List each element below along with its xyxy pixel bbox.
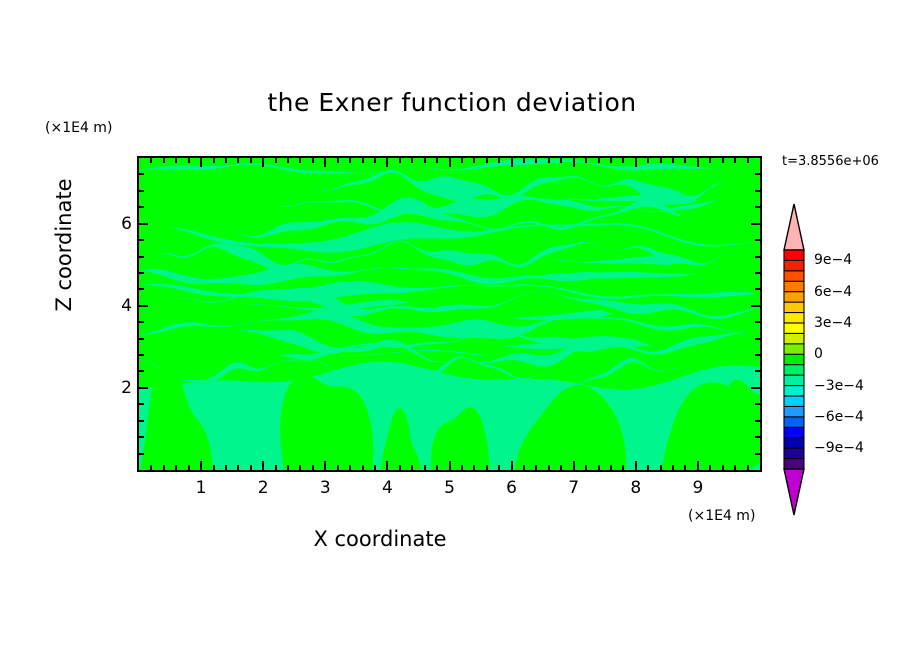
y-axis-minor-tick-right [755, 272, 760, 274]
x-axis-minor-tick-top [598, 158, 600, 163]
x-axis-tick-label: 6 [506, 478, 517, 498]
x-axis-minor-tick-top [734, 158, 736, 163]
x-axis-minor-tick [399, 465, 401, 470]
x-axis-minor-tick-top [684, 158, 686, 163]
y-axis-minor-tick [139, 420, 144, 422]
x-axis-minor-tick [374, 465, 376, 470]
x-axis-minor-tick [747, 465, 749, 470]
contour-plot-area [137, 156, 762, 472]
x-axis-tick-label: 8 [630, 478, 641, 498]
x-axis-minor-tick-top [337, 158, 339, 163]
x-axis-minor-tick [163, 465, 165, 470]
y-axis-minor-tick-right [755, 239, 760, 241]
x-axis-minor-tick-top [411, 158, 413, 163]
x-axis-major-tick [200, 461, 202, 470]
x-axis-minor-tick-top [188, 158, 190, 163]
x-axis-minor-tick-top [585, 158, 587, 163]
x-axis-minor-tick [647, 465, 649, 470]
x-axis-minor-tick-top [610, 158, 612, 163]
x-axis-minor-tick-top [622, 158, 624, 163]
x-axis-unit-label: (×1E4 m) [688, 508, 755, 524]
x-axis-major-tick-top [324, 158, 326, 167]
y-axis-minor-tick [139, 321, 144, 323]
x-axis-major-tick-top [697, 158, 699, 167]
x-axis-major-tick-top [573, 158, 575, 167]
y-axis-minor-tick [139, 370, 144, 372]
x-axis-minor-tick-top [175, 158, 177, 163]
y-axis-minor-tick-right [755, 288, 760, 290]
colorbar [780, 203, 808, 516]
y-axis-minor-tick-right [755, 338, 760, 340]
x-axis-minor-tick-top [461, 158, 463, 163]
y-axis-tick-label: 6 [110, 214, 132, 234]
x-axis-minor-tick [548, 465, 550, 470]
x-axis-minor-tick-top [660, 158, 662, 163]
y-axis-minor-tick-right [755, 370, 760, 372]
x-axis-major-tick [511, 461, 513, 470]
timestamp-label: t=3.8556e+06 [782, 154, 879, 169]
y-axis-major-tick [139, 387, 148, 389]
x-axis-minor-tick [622, 465, 624, 470]
y-axis-minor-tick [139, 272, 144, 274]
x-axis-tick-label: 3 [320, 478, 331, 498]
x-axis-minor-tick [349, 465, 351, 470]
y-axis-minor-tick [139, 256, 144, 258]
x-axis-minor-tick [610, 465, 612, 470]
colorbar-tick-label: 3e−4 [814, 315, 852, 331]
x-axis-minor-tick-top [163, 158, 165, 163]
x-axis-minor-tick-top [473, 158, 475, 163]
y-axis-major-tick-right [751, 387, 760, 389]
y-axis-major-tick [139, 305, 148, 307]
x-axis-major-tick [262, 461, 264, 470]
x-axis-minor-tick-top [374, 158, 376, 163]
x-axis-minor-tick [362, 465, 364, 470]
y-axis-minor-tick [139, 403, 144, 405]
x-axis-minor-tick-top [312, 158, 314, 163]
x-axis-major-tick-top [262, 158, 264, 167]
x-axis-minor-tick [734, 465, 736, 470]
x-axis-minor-tick [424, 465, 426, 470]
y-axis-minor-tick-right [755, 256, 760, 258]
colorbar-tick-label: 0 [814, 346, 823, 362]
y-axis-tick-label: 2 [110, 378, 132, 398]
y-axis-minor-tick [139, 338, 144, 340]
colorbar-tick-label: −9e−4 [814, 440, 864, 456]
x-axis-minor-tick-top [672, 158, 674, 163]
x-axis-major-tick-top [386, 158, 388, 167]
x-axis-minor-tick-top [535, 158, 537, 163]
y-axis-minor-tick [139, 190, 144, 192]
x-axis-minor-tick-top [399, 158, 401, 163]
colorbar-tick-label: −3e−4 [814, 378, 864, 394]
x-axis-minor-tick-top [287, 158, 289, 163]
y-axis-minor-tick-right [755, 436, 760, 438]
x-axis-major-tick [386, 461, 388, 470]
y-axis-minor-tick-right [755, 190, 760, 192]
x-axis-minor-tick-top [560, 158, 562, 163]
x-axis-minor-tick-top [709, 158, 711, 163]
x-axis-major-tick [573, 461, 575, 470]
x-axis-major-tick [635, 461, 637, 470]
x-axis-minor-tick-top [548, 158, 550, 163]
x-axis-minor-tick-top [722, 158, 724, 163]
y-axis-minor-tick [139, 436, 144, 438]
y-axis-minor-tick [139, 173, 144, 175]
x-axis-major-tick-top [511, 158, 513, 167]
x-axis-minor-tick [225, 465, 227, 470]
x-axis-minor-tick-top [523, 158, 525, 163]
y-axis-major-tick-right [751, 305, 760, 307]
x-axis-minor-tick [535, 465, 537, 470]
x-axis-minor-tick [436, 465, 438, 470]
y-axis-minor-tick-right [755, 403, 760, 405]
y-axis-minor-tick [139, 453, 144, 455]
x-axis-minor-tick-top [275, 158, 277, 163]
x-axis-tick-label: 5 [444, 478, 455, 498]
x-axis-minor-tick [237, 465, 239, 470]
x-axis-minor-tick [213, 465, 215, 470]
x-axis-minor-tick [473, 465, 475, 470]
x-axis-minor-tick-top [150, 158, 152, 163]
x-axis-major-tick-top [200, 158, 202, 167]
x-axis-minor-tick [461, 465, 463, 470]
x-axis-minor-tick [287, 465, 289, 470]
x-axis-minor-tick [523, 465, 525, 470]
x-axis-major-tick [324, 461, 326, 470]
x-axis-minor-tick [188, 465, 190, 470]
y-axis-minor-tick [139, 239, 144, 241]
x-axis-minor-tick [312, 465, 314, 470]
x-axis-minor-tick-top [647, 158, 649, 163]
y-axis-minor-tick-right [755, 453, 760, 455]
y-axis-minor-tick [139, 288, 144, 290]
x-axis-minor-tick [560, 465, 562, 470]
x-axis-minor-tick-top [498, 158, 500, 163]
x-axis-minor-tick-top [747, 158, 749, 163]
x-axis-minor-tick [598, 465, 600, 470]
y-axis-title: Z coordinate [52, 135, 76, 355]
x-axis-minor-tick [498, 465, 500, 470]
x-axis-minor-tick-top [349, 158, 351, 163]
x-axis-tick-label: 4 [382, 478, 393, 498]
y-axis-unit-label: (×1E4 m) [45, 120, 112, 136]
x-axis-minor-tick [275, 465, 277, 470]
x-axis-tick-label: 7 [568, 478, 579, 498]
y-axis-minor-tick-right [755, 321, 760, 323]
y-axis-tick-label: 4 [110, 296, 132, 316]
y-axis-minor-tick [139, 206, 144, 208]
y-axis-minor-tick-right [755, 206, 760, 208]
x-axis-tick-label: 1 [196, 478, 207, 498]
y-axis-minor-tick-right [755, 354, 760, 356]
x-axis-minor-tick [150, 465, 152, 470]
colorbar-tick-label: −6e−4 [814, 409, 864, 425]
contour-field [139, 158, 760, 470]
x-axis-minor-tick [486, 465, 488, 470]
x-axis-tick-label: 2 [258, 478, 269, 498]
x-axis-minor-tick-top [250, 158, 252, 163]
x-axis-minor-tick-top [436, 158, 438, 163]
x-axis-minor-tick-top [237, 158, 239, 163]
x-axis-minor-tick [337, 465, 339, 470]
x-axis-minor-tick [722, 465, 724, 470]
x-axis-minor-tick [709, 465, 711, 470]
x-axis-major-tick [449, 461, 451, 470]
y-axis-major-tick [139, 223, 148, 225]
y-axis-minor-tick-right [755, 173, 760, 175]
x-axis-minor-tick-top [213, 158, 215, 163]
x-axis-minor-tick [411, 465, 413, 470]
x-axis-major-tick-top [449, 158, 451, 167]
x-axis-minor-tick-top [362, 158, 364, 163]
y-axis-minor-tick [139, 354, 144, 356]
x-axis-minor-tick-top [486, 158, 488, 163]
chart-title: the Exner function deviation [0, 88, 904, 117]
x-axis-major-tick [697, 461, 699, 470]
x-axis-major-tick-top [635, 158, 637, 167]
x-axis-minor-tick [585, 465, 587, 470]
x-axis-tick-label: 9 [692, 478, 703, 498]
x-axis-title: X coordinate [0, 527, 760, 551]
x-axis-minor-tick [672, 465, 674, 470]
x-axis-minor-tick-top [424, 158, 426, 163]
x-axis-minor-tick [660, 465, 662, 470]
y-axis-major-tick-right [751, 223, 760, 225]
colorbar-tick-label: 9e−4 [814, 252, 852, 268]
x-axis-minor-tick [175, 465, 177, 470]
x-axis-minor-tick [684, 465, 686, 470]
x-axis-minor-tick [299, 465, 301, 470]
x-axis-minor-tick-top [225, 158, 227, 163]
x-axis-minor-tick [250, 465, 252, 470]
x-axis-minor-tick-top [299, 158, 301, 163]
y-axis-minor-tick-right [755, 420, 760, 422]
colorbar-tick-label: 6e−4 [814, 284, 852, 300]
